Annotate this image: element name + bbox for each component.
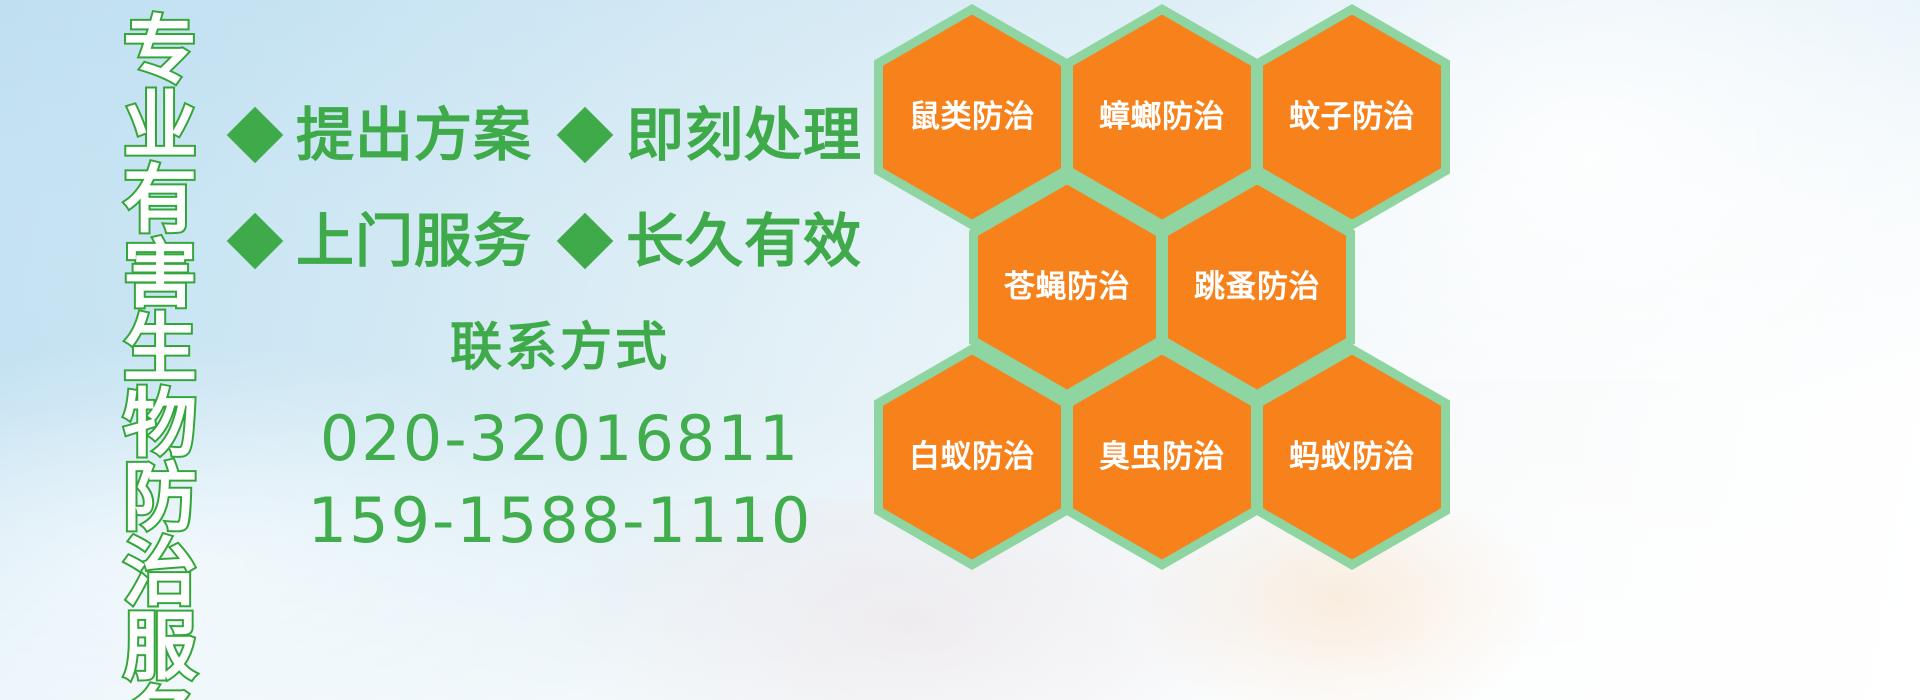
vertical-headline-char: 治 bbox=[123, 536, 197, 611]
vertical-headline-char: 防 bbox=[123, 461, 197, 536]
vertical-headline: 专 业 有 害 生 物 防 治 服 务 bbox=[112, 14, 208, 686]
phone-landline[interactable]: 020-32016811 bbox=[300, 398, 820, 480]
diamond-bullet-icon bbox=[228, 108, 282, 162]
slogan-label: 长久有效 bbox=[626, 210, 862, 272]
hex-label: 苍蝇防治 bbox=[1004, 270, 1130, 304]
hex-inner: 蟑螂防治 bbox=[1073, 15, 1251, 220]
vertical-headline-char: 务 bbox=[123, 685, 197, 700]
slogan-row: 上门服务 长久有效 bbox=[228, 188, 868, 294]
vertical-headline-char: 业 bbox=[123, 89, 197, 164]
hex-label: 白蚁防治 bbox=[909, 440, 1035, 474]
vertical-headline-char: 生 bbox=[123, 312, 197, 387]
diamond-bullet-icon bbox=[228, 214, 282, 268]
hex-inner: 苍蝇防治 bbox=[978, 185, 1156, 390]
slogan-item: 长久有效 bbox=[558, 210, 862, 272]
hex-inner: 蚊子防治 bbox=[1263, 15, 1441, 220]
hex-inner: 蚂蚁防治 bbox=[1263, 355, 1441, 560]
slogan-item: 即刻处理 bbox=[558, 104, 862, 166]
hex-label: 蚊子防治 bbox=[1289, 100, 1415, 134]
vertical-headline-char: 专 bbox=[123, 14, 197, 89]
slogan-item: 上门服务 bbox=[228, 210, 532, 272]
diamond-bullet-icon bbox=[558, 214, 612, 268]
vertical-headline-char: 害 bbox=[123, 238, 197, 313]
slogan-label: 上门服务 bbox=[296, 210, 532, 272]
contact-block: 联系方式 020-32016811 159-1588-1110 bbox=[300, 312, 820, 562]
contact-title: 联系方式 bbox=[300, 312, 820, 384]
service-honeycomb: 鼠类防治 蟑螂防治 蚊子防治 苍蝇防治 跳蚤防治 白蚁防治 bbox=[866, 0, 1920, 700]
vertical-headline-char: 物 bbox=[123, 387, 197, 462]
slogan-block: 提出方案 即刻处理 上门服务 长久有效 bbox=[228, 82, 868, 294]
hex-label: 鼠类防治 bbox=[909, 100, 1035, 134]
vertical-headline-char: 服 bbox=[123, 610, 197, 685]
hex-inner: 白蚁防治 bbox=[883, 355, 1061, 560]
hex-label: 跳蚤防治 bbox=[1194, 270, 1320, 304]
hex-label: 蟑螂防治 bbox=[1099, 100, 1225, 134]
hex-label: 臭虫防治 bbox=[1099, 440, 1225, 474]
slogan-label: 即刻处理 bbox=[626, 104, 862, 166]
slogan-row: 提出方案 即刻处理 bbox=[228, 82, 868, 188]
vertical-headline-char: 有 bbox=[123, 163, 197, 238]
hex-inner: 臭虫防治 bbox=[1073, 355, 1251, 560]
hex-label: 蚂蚁防治 bbox=[1289, 440, 1415, 474]
slogan-item: 提出方案 bbox=[228, 104, 532, 166]
promo-banner: 专 业 有 害 生 物 防 治 服 务 提出方案 即刻处理 上门服务 bbox=[0, 0, 1920, 700]
diamond-bullet-icon bbox=[558, 108, 612, 162]
slogan-label: 提出方案 bbox=[296, 104, 532, 166]
phone-mobile[interactable]: 159-1588-1110 bbox=[300, 480, 820, 562]
hex-inner: 鼠类防治 bbox=[883, 15, 1061, 220]
hex-inner: 跳蚤防治 bbox=[1168, 185, 1346, 390]
